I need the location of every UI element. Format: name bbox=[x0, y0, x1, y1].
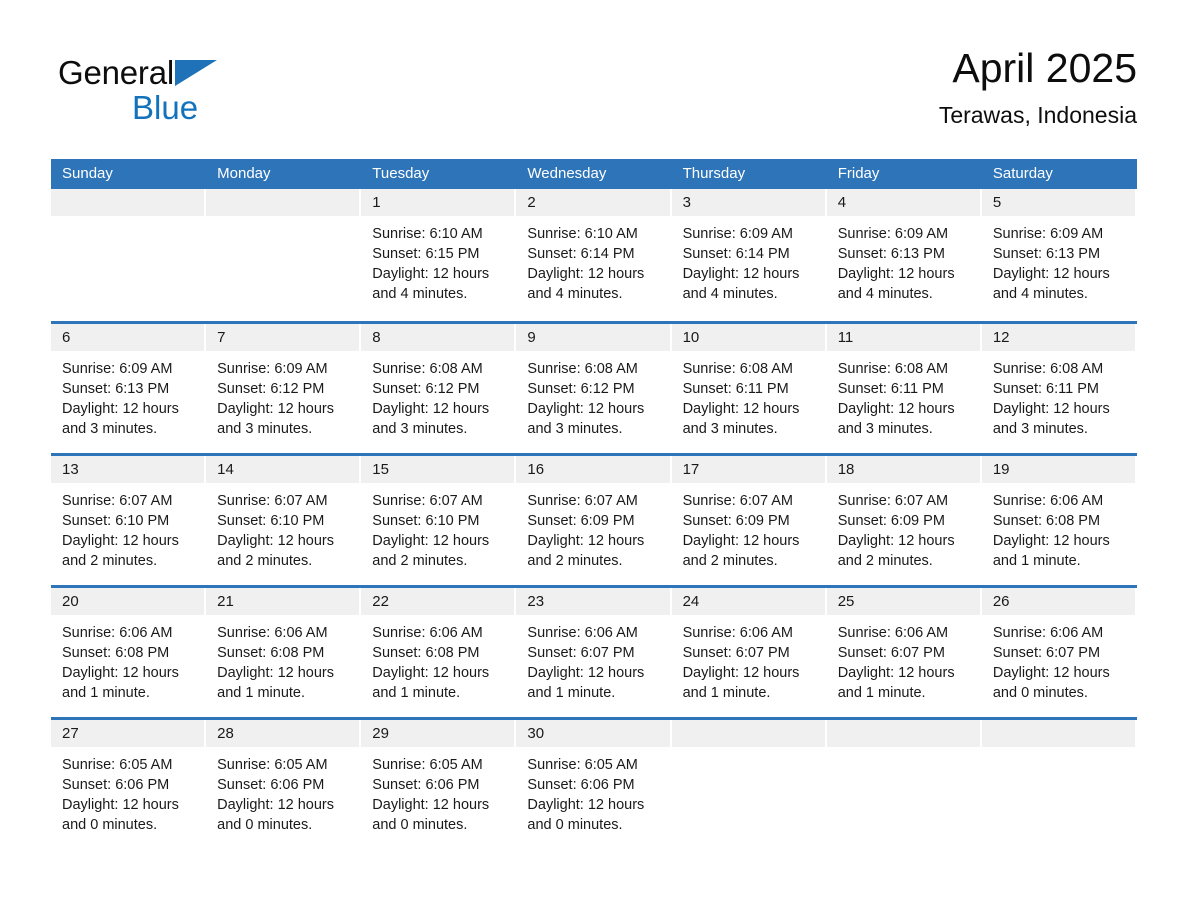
day-number-band: 7 bbox=[206, 324, 361, 351]
day-number: 7 bbox=[206, 324, 359, 351]
daylight-text: Daylight: 12 hours and 3 minutes. bbox=[372, 399, 508, 439]
calendar-week-row: 13Sunrise: 6:07 AMSunset: 6:10 PMDayligh… bbox=[51, 453, 1137, 585]
day-details: Sunrise: 6:06 AMSunset: 6:08 PMDaylight:… bbox=[51, 615, 206, 703]
sunset-text: Sunset: 6:11 PM bbox=[993, 379, 1129, 399]
sunset-text: Sunset: 6:09 PM bbox=[683, 511, 819, 531]
sunset-text: Sunset: 6:07 PM bbox=[838, 643, 974, 663]
day-details: Sunrise: 6:06 AMSunset: 6:07 PMDaylight:… bbox=[516, 615, 671, 703]
day-cell-empty bbox=[51, 189, 206, 321]
day-number: 9 bbox=[516, 324, 669, 351]
daylight-text: Daylight: 12 hours and 3 minutes. bbox=[838, 399, 974, 439]
general-blue-logo[interactable]: General Blue bbox=[58, 54, 318, 134]
day-cell[interactable]: 27Sunrise: 6:05 AMSunset: 6:06 PMDayligh… bbox=[51, 720, 206, 849]
calendar-page: General Blue April 2025 Terawas, Indones… bbox=[0, 0, 1188, 918]
day-cell[interactable]: 29Sunrise: 6:05 AMSunset: 6:06 PMDayligh… bbox=[361, 720, 516, 849]
daylight-text: Daylight: 12 hours and 3 minutes. bbox=[527, 399, 663, 439]
logo-text-general: General bbox=[58, 54, 174, 91]
day-details: Sunrise: 6:05 AMSunset: 6:06 PMDaylight:… bbox=[51, 747, 206, 835]
day-number: 5 bbox=[982, 189, 1135, 216]
day-number-band: 23 bbox=[516, 588, 671, 615]
sunrise-text: Sunrise: 6:07 AM bbox=[527, 491, 663, 511]
daylight-text: Daylight: 12 hours and 0 minutes. bbox=[993, 663, 1129, 703]
day-details: Sunrise: 6:06 AMSunset: 6:08 PMDaylight:… bbox=[982, 483, 1137, 571]
day-number: 27 bbox=[51, 720, 204, 747]
day-number-band: 18 bbox=[827, 456, 982, 483]
day-number: 23 bbox=[516, 588, 669, 615]
day-details: Sunrise: 6:10 AMSunset: 6:14 PMDaylight:… bbox=[516, 216, 671, 304]
daylight-text: Daylight: 12 hours and 0 minutes. bbox=[62, 795, 198, 835]
day-details: Sunrise: 6:07 AMSunset: 6:09 PMDaylight:… bbox=[827, 483, 982, 571]
logo-line-one: General bbox=[58, 54, 318, 92]
sunset-text: Sunset: 6:13 PM bbox=[838, 244, 974, 264]
day-number: 1 bbox=[361, 189, 514, 216]
day-cell[interactable]: 5Sunrise: 6:09 AMSunset: 6:13 PMDaylight… bbox=[982, 189, 1137, 321]
day-number: 21 bbox=[206, 588, 359, 615]
day-details: Sunrise: 6:09 AMSunset: 6:14 PMDaylight:… bbox=[672, 216, 827, 304]
sunset-text: Sunset: 6:08 PM bbox=[62, 643, 198, 663]
day-cell[interactable]: 26Sunrise: 6:06 AMSunset: 6:07 PMDayligh… bbox=[982, 588, 1137, 717]
day-number: 20 bbox=[51, 588, 204, 615]
sunrise-text: Sunrise: 6:09 AM bbox=[217, 359, 353, 379]
sunset-text: Sunset: 6:14 PM bbox=[527, 244, 663, 264]
sunrise-text: Sunrise: 6:07 AM bbox=[683, 491, 819, 511]
day-number-band: 12 bbox=[982, 324, 1137, 351]
day-cell[interactable]: 11Sunrise: 6:08 AMSunset: 6:11 PMDayligh… bbox=[827, 324, 982, 453]
daylight-text: Daylight: 12 hours and 2 minutes. bbox=[838, 531, 974, 571]
day-details: Sunrise: 6:06 AMSunset: 6:07 PMDaylight:… bbox=[672, 615, 827, 703]
daylight-text: Daylight: 12 hours and 4 minutes. bbox=[838, 264, 974, 304]
daylight-text: Daylight: 12 hours and 1 minute. bbox=[683, 663, 819, 703]
day-details: Sunrise: 6:05 AMSunset: 6:06 PMDaylight:… bbox=[206, 747, 361, 835]
day-number-band: 15 bbox=[361, 456, 516, 483]
day-number: 15 bbox=[361, 456, 514, 483]
calendar-grid: SundayMondayTuesdayWednesdayThursdayFrid… bbox=[51, 159, 1137, 849]
day-number-band: 5 bbox=[982, 189, 1137, 216]
sunrise-text: Sunrise: 6:07 AM bbox=[62, 491, 198, 511]
day-number-band: 13 bbox=[51, 456, 206, 483]
sunrise-text: Sunrise: 6:09 AM bbox=[838, 224, 974, 244]
sunset-text: Sunset: 6:10 PM bbox=[372, 511, 508, 531]
day-number-band: 1 bbox=[361, 189, 516, 216]
day-cell[interactable]: 3Sunrise: 6:09 AMSunset: 6:14 PMDaylight… bbox=[672, 189, 827, 321]
weekday-header-thursday: Thursday bbox=[672, 159, 827, 189]
sunrise-text: Sunrise: 6:06 AM bbox=[217, 623, 353, 643]
day-number: 19 bbox=[982, 456, 1135, 483]
daylight-text: Daylight: 12 hours and 2 minutes. bbox=[62, 531, 198, 571]
day-cell[interactable]: 16Sunrise: 6:07 AMSunset: 6:09 PMDayligh… bbox=[516, 456, 671, 585]
day-number-band: 3 bbox=[672, 189, 827, 216]
day-number-band: 19 bbox=[982, 456, 1137, 483]
day-number-band bbox=[206, 189, 361, 216]
sunset-text: Sunset: 6:13 PM bbox=[993, 244, 1129, 264]
day-number-band: 4 bbox=[827, 189, 982, 216]
day-number: 28 bbox=[206, 720, 359, 747]
sunset-text: Sunset: 6:07 PM bbox=[993, 643, 1129, 663]
calendar-week-row: 1Sunrise: 6:10 AMSunset: 6:15 PMDaylight… bbox=[51, 189, 1137, 321]
day-cell[interactable]: 24Sunrise: 6:06 AMSunset: 6:07 PMDayligh… bbox=[672, 588, 827, 717]
day-details: Sunrise: 6:07 AMSunset: 6:10 PMDaylight:… bbox=[51, 483, 206, 571]
daylight-text: Daylight: 12 hours and 1 minute. bbox=[62, 663, 198, 703]
sunset-text: Sunset: 6:14 PM bbox=[683, 244, 819, 264]
day-cell[interactable]: 23Sunrise: 6:06 AMSunset: 6:07 PMDayligh… bbox=[516, 588, 671, 717]
daylight-text: Daylight: 12 hours and 1 minute. bbox=[527, 663, 663, 703]
sunrise-text: Sunrise: 6:06 AM bbox=[683, 623, 819, 643]
day-number-band: 20 bbox=[51, 588, 206, 615]
location-subtitle: Terawas, Indonesia bbox=[939, 101, 1137, 129]
sunrise-text: Sunrise: 6:05 AM bbox=[217, 755, 353, 775]
day-number: 8 bbox=[361, 324, 514, 351]
sunrise-text: Sunrise: 6:06 AM bbox=[62, 623, 198, 643]
calendar-weeks: 1Sunrise: 6:10 AMSunset: 6:15 PMDaylight… bbox=[51, 189, 1137, 849]
sunset-text: Sunset: 6:07 PM bbox=[683, 643, 819, 663]
sunrise-text: Sunrise: 6:07 AM bbox=[838, 491, 974, 511]
day-number-band bbox=[672, 720, 827, 747]
sunset-text: Sunset: 6:06 PM bbox=[527, 775, 663, 795]
daylight-text: Daylight: 12 hours and 1 minute. bbox=[372, 663, 508, 703]
sunrise-text: Sunrise: 6:06 AM bbox=[527, 623, 663, 643]
day-cell-empty bbox=[672, 720, 827, 849]
day-details: Sunrise: 6:09 AMSunset: 6:12 PMDaylight:… bbox=[206, 351, 361, 439]
sunset-text: Sunset: 6:10 PM bbox=[62, 511, 198, 531]
sunset-text: Sunset: 6:12 PM bbox=[372, 379, 508, 399]
day-number: 30 bbox=[516, 720, 669, 747]
calendar-week-row: 20Sunrise: 6:06 AMSunset: 6:08 PMDayligh… bbox=[51, 585, 1137, 717]
day-number: 22 bbox=[361, 588, 514, 615]
logo-triangle-icon bbox=[175, 60, 217, 86]
day-number-band: 21 bbox=[206, 588, 361, 615]
day-details: Sunrise: 6:10 AMSunset: 6:15 PMDaylight:… bbox=[361, 216, 516, 304]
day-cell[interactable]: 6Sunrise: 6:09 AMSunset: 6:13 PMDaylight… bbox=[51, 324, 206, 453]
day-cell[interactable]: 1Sunrise: 6:10 AMSunset: 6:15 PMDaylight… bbox=[361, 189, 516, 321]
daylight-text: Daylight: 12 hours and 2 minutes. bbox=[372, 531, 508, 571]
day-number-band bbox=[51, 189, 206, 216]
page-title: April 2025 bbox=[939, 44, 1137, 92]
day-number: 3 bbox=[672, 189, 825, 216]
day-number-band: 22 bbox=[361, 588, 516, 615]
day-cell[interactable]: 28Sunrise: 6:05 AMSunset: 6:06 PMDayligh… bbox=[206, 720, 361, 849]
day-number-band: 17 bbox=[672, 456, 827, 483]
weekday-header-monday: Monday bbox=[206, 159, 361, 189]
day-details: Sunrise: 6:08 AMSunset: 6:11 PMDaylight:… bbox=[672, 351, 827, 439]
sunset-text: Sunset: 6:10 PM bbox=[217, 511, 353, 531]
sunrise-text: Sunrise: 6:06 AM bbox=[993, 623, 1129, 643]
day-details: Sunrise: 6:09 AMSunset: 6:13 PMDaylight:… bbox=[827, 216, 982, 304]
day-number: 14 bbox=[206, 456, 359, 483]
daylight-text: Daylight: 12 hours and 4 minutes. bbox=[527, 264, 663, 304]
day-number: 10 bbox=[672, 324, 825, 351]
daylight-text: Daylight: 12 hours and 0 minutes. bbox=[217, 795, 353, 835]
daylight-text: Daylight: 12 hours and 1 minute. bbox=[838, 663, 974, 703]
sunrise-text: Sunrise: 6:09 AM bbox=[683, 224, 819, 244]
day-number-band: 10 bbox=[672, 324, 827, 351]
daylight-text: Daylight: 12 hours and 2 minutes. bbox=[217, 531, 353, 571]
day-cell[interactable]: 9Sunrise: 6:08 AMSunset: 6:12 PMDaylight… bbox=[516, 324, 671, 453]
weekday-header-friday: Friday bbox=[827, 159, 982, 189]
daylight-text: Daylight: 12 hours and 3 minutes. bbox=[683, 399, 819, 439]
day-cell[interactable]: 7Sunrise: 6:09 AMSunset: 6:12 PMDaylight… bbox=[206, 324, 361, 453]
day-cell[interactable]: 15Sunrise: 6:07 AMSunset: 6:10 PMDayligh… bbox=[361, 456, 516, 585]
day-details: Sunrise: 6:05 AMSunset: 6:06 PMDaylight:… bbox=[361, 747, 516, 835]
day-details: Sunrise: 6:07 AMSunset: 6:10 PMDaylight:… bbox=[206, 483, 361, 571]
sunrise-text: Sunrise: 6:08 AM bbox=[527, 359, 663, 379]
day-cell[interactable]: 14Sunrise: 6:07 AMSunset: 6:10 PMDayligh… bbox=[206, 456, 361, 585]
sunrise-text: Sunrise: 6:06 AM bbox=[838, 623, 974, 643]
sunset-text: Sunset: 6:06 PM bbox=[62, 775, 198, 795]
weekday-header-sunday: Sunday bbox=[51, 159, 206, 189]
sunset-text: Sunset: 6:09 PM bbox=[838, 511, 974, 531]
day-number: 24 bbox=[672, 588, 825, 615]
day-number-band: 9 bbox=[516, 324, 671, 351]
day-details: Sunrise: 6:09 AMSunset: 6:13 PMDaylight:… bbox=[51, 351, 206, 439]
sunrise-text: Sunrise: 6:09 AM bbox=[62, 359, 198, 379]
day-number-band: 11 bbox=[827, 324, 982, 351]
day-cell[interactable]: 30Sunrise: 6:05 AMSunset: 6:06 PMDayligh… bbox=[516, 720, 671, 849]
day-details: Sunrise: 6:08 AMSunset: 6:11 PMDaylight:… bbox=[827, 351, 982, 439]
day-number: 4 bbox=[827, 189, 980, 216]
daylight-text: Daylight: 12 hours and 0 minutes. bbox=[527, 795, 663, 835]
day-number: 11 bbox=[827, 324, 980, 351]
sunset-text: Sunset: 6:12 PM bbox=[527, 379, 663, 399]
daylight-text: Daylight: 12 hours and 3 minutes. bbox=[62, 399, 198, 439]
day-cell[interactable]: 22Sunrise: 6:06 AMSunset: 6:08 PMDayligh… bbox=[361, 588, 516, 717]
sunrise-text: Sunrise: 6:09 AM bbox=[993, 224, 1129, 244]
daylight-text: Daylight: 12 hours and 2 minutes. bbox=[683, 531, 819, 571]
day-number: 6 bbox=[51, 324, 204, 351]
day-number-band: 27 bbox=[51, 720, 206, 747]
sunset-text: Sunset: 6:08 PM bbox=[993, 511, 1129, 531]
day-number: 29 bbox=[361, 720, 514, 747]
sunset-text: Sunset: 6:13 PM bbox=[62, 379, 198, 399]
logo-text-blue: Blue bbox=[132, 90, 318, 126]
sunset-text: Sunset: 6:07 PM bbox=[527, 643, 663, 663]
day-details: Sunrise: 6:08 AMSunset: 6:12 PMDaylight:… bbox=[516, 351, 671, 439]
daylight-text: Daylight: 12 hours and 3 minutes. bbox=[217, 399, 353, 439]
day-details: Sunrise: 6:06 AMSunset: 6:07 PMDaylight:… bbox=[982, 615, 1137, 703]
weekday-header-tuesday: Tuesday bbox=[361, 159, 516, 189]
day-details: Sunrise: 6:08 AMSunset: 6:12 PMDaylight:… bbox=[361, 351, 516, 439]
day-number: 26 bbox=[982, 588, 1135, 615]
day-details: Sunrise: 6:06 AMSunset: 6:08 PMDaylight:… bbox=[206, 615, 361, 703]
day-cell[interactable]: 20Sunrise: 6:06 AMSunset: 6:08 PMDayligh… bbox=[51, 588, 206, 717]
sunrise-text: Sunrise: 6:08 AM bbox=[838, 359, 974, 379]
title-block: April 2025 Terawas, Indonesia bbox=[939, 44, 1137, 129]
day-details: Sunrise: 6:06 AMSunset: 6:07 PMDaylight:… bbox=[827, 615, 982, 703]
sunrise-text: Sunrise: 6:07 AM bbox=[217, 491, 353, 511]
day-cell[interactable]: 25Sunrise: 6:06 AMSunset: 6:07 PMDayligh… bbox=[827, 588, 982, 717]
day-details: Sunrise: 6:07 AMSunset: 6:09 PMDaylight:… bbox=[672, 483, 827, 571]
weekday-header-wednesday: Wednesday bbox=[516, 159, 671, 189]
day-number: 17 bbox=[672, 456, 825, 483]
day-number-band: 26 bbox=[982, 588, 1137, 615]
day-number-band: 14 bbox=[206, 456, 361, 483]
day-number-band: 28 bbox=[206, 720, 361, 747]
day-number-band: 2 bbox=[516, 189, 671, 216]
day-number-band: 16 bbox=[516, 456, 671, 483]
day-details: Sunrise: 6:08 AMSunset: 6:11 PMDaylight:… bbox=[982, 351, 1137, 439]
sunrise-text: Sunrise: 6:05 AM bbox=[372, 755, 508, 775]
day-number-band: 25 bbox=[827, 588, 982, 615]
sunset-text: Sunset: 6:06 PM bbox=[372, 775, 508, 795]
sunrise-text: Sunrise: 6:05 AM bbox=[527, 755, 663, 775]
day-details: Sunrise: 6:09 AMSunset: 6:13 PMDaylight:… bbox=[982, 216, 1137, 304]
sunrise-text: Sunrise: 6:10 AM bbox=[372, 224, 508, 244]
sunset-text: Sunset: 6:11 PM bbox=[838, 379, 974, 399]
daylight-text: Daylight: 12 hours and 1 minute. bbox=[993, 531, 1129, 571]
daylight-text: Daylight: 12 hours and 1 minute. bbox=[217, 663, 353, 703]
day-cell[interactable]: 12Sunrise: 6:08 AMSunset: 6:11 PMDayligh… bbox=[982, 324, 1137, 453]
day-cell[interactable]: 17Sunrise: 6:07 AMSunset: 6:09 PMDayligh… bbox=[672, 456, 827, 585]
day-number: 12 bbox=[982, 324, 1135, 351]
sunset-text: Sunset: 6:09 PM bbox=[527, 511, 663, 531]
sunrise-text: Sunrise: 6:08 AM bbox=[993, 359, 1129, 379]
daylight-text: Daylight: 12 hours and 2 minutes. bbox=[527, 531, 663, 571]
day-cell-empty bbox=[206, 189, 361, 321]
day-cell-empty bbox=[827, 720, 982, 849]
daylight-text: Daylight: 12 hours and 0 minutes. bbox=[372, 795, 508, 835]
sunset-text: Sunset: 6:06 PM bbox=[217, 775, 353, 795]
day-number: 25 bbox=[827, 588, 980, 615]
calendar-week-row: 6Sunrise: 6:09 AMSunset: 6:13 PMDaylight… bbox=[51, 321, 1137, 453]
daylight-text: Daylight: 12 hours and 4 minutes. bbox=[993, 264, 1129, 304]
sunrise-text: Sunrise: 6:08 AM bbox=[372, 359, 508, 379]
sunrise-text: Sunrise: 6:07 AM bbox=[372, 491, 508, 511]
day-number-band: 30 bbox=[516, 720, 671, 747]
sunset-text: Sunset: 6:12 PM bbox=[217, 379, 353, 399]
day-details: Sunrise: 6:05 AMSunset: 6:06 PMDaylight:… bbox=[516, 747, 671, 835]
day-number-band bbox=[982, 720, 1137, 747]
day-cell[interactable]: 4Sunrise: 6:09 AMSunset: 6:13 PMDaylight… bbox=[827, 189, 982, 321]
calendar-week-row: 27Sunrise: 6:05 AMSunset: 6:06 PMDayligh… bbox=[51, 717, 1137, 849]
day-cell[interactable]: 21Sunrise: 6:06 AMSunset: 6:08 PMDayligh… bbox=[206, 588, 361, 717]
day-number-band: 8 bbox=[361, 324, 516, 351]
daylight-text: Daylight: 12 hours and 4 minutes. bbox=[683, 264, 819, 304]
day-cell-empty bbox=[982, 720, 1137, 849]
sunrise-text: Sunrise: 6:08 AM bbox=[683, 359, 819, 379]
sunrise-text: Sunrise: 6:10 AM bbox=[527, 224, 663, 244]
day-number-band bbox=[827, 720, 982, 747]
day-number: 16 bbox=[516, 456, 669, 483]
day-cell[interactable]: 8Sunrise: 6:08 AMSunset: 6:12 PMDaylight… bbox=[361, 324, 516, 453]
sunrise-text: Sunrise: 6:06 AM bbox=[993, 491, 1129, 511]
day-details: Sunrise: 6:06 AMSunset: 6:08 PMDaylight:… bbox=[361, 615, 516, 703]
sunrise-text: Sunrise: 6:05 AM bbox=[62, 755, 198, 775]
day-number: 13 bbox=[51, 456, 204, 483]
day-details: Sunrise: 6:07 AMSunset: 6:10 PMDaylight:… bbox=[361, 483, 516, 571]
day-cell[interactable]: 10Sunrise: 6:08 AMSunset: 6:11 PMDayligh… bbox=[672, 324, 827, 453]
sunset-text: Sunset: 6:15 PM bbox=[372, 244, 508, 264]
day-cell[interactable]: 13Sunrise: 6:07 AMSunset: 6:10 PMDayligh… bbox=[51, 456, 206, 585]
day-cell[interactable]: 18Sunrise: 6:07 AMSunset: 6:09 PMDayligh… bbox=[827, 456, 982, 585]
sunset-text: Sunset: 6:08 PM bbox=[217, 643, 353, 663]
weekday-header-saturday: Saturday bbox=[982, 159, 1137, 189]
weekday-header-row: SundayMondayTuesdayWednesdayThursdayFrid… bbox=[51, 159, 1137, 189]
day-number-band: 6 bbox=[51, 324, 206, 351]
day-cell[interactable]: 19Sunrise: 6:06 AMSunset: 6:08 PMDayligh… bbox=[982, 456, 1137, 585]
day-number-band: 29 bbox=[361, 720, 516, 747]
daylight-text: Daylight: 12 hours and 4 minutes. bbox=[372, 264, 508, 304]
day-cell[interactable]: 2Sunrise: 6:10 AMSunset: 6:14 PMDaylight… bbox=[516, 189, 671, 321]
page-header: General Blue April 2025 Terawas, Indones… bbox=[51, 44, 1137, 148]
sunset-text: Sunset: 6:08 PM bbox=[372, 643, 508, 663]
day-details: Sunrise: 6:07 AMSunset: 6:09 PMDaylight:… bbox=[516, 483, 671, 571]
day-number: 2 bbox=[516, 189, 669, 216]
daylight-text: Daylight: 12 hours and 3 minutes. bbox=[993, 399, 1129, 439]
day-number: 18 bbox=[827, 456, 980, 483]
sunrise-text: Sunrise: 6:06 AM bbox=[372, 623, 508, 643]
day-number-band: 24 bbox=[672, 588, 827, 615]
sunset-text: Sunset: 6:11 PM bbox=[683, 379, 819, 399]
